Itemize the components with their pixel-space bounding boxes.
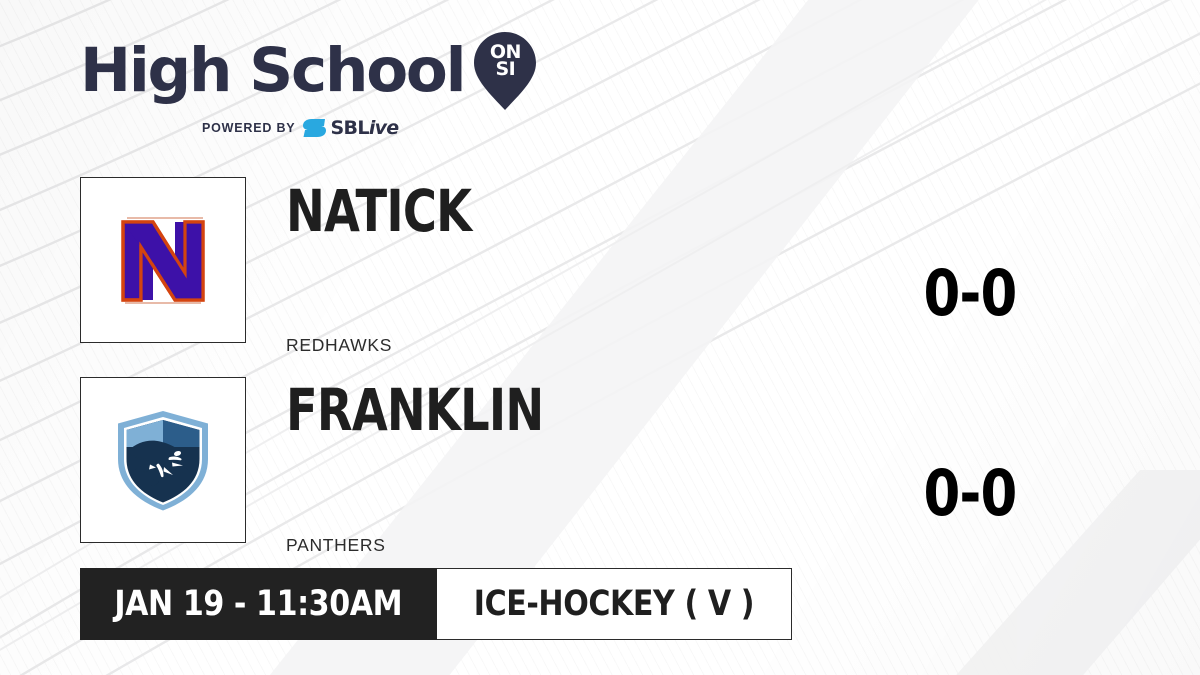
sblive-s-mark-icon [303,118,327,138]
team-name-natick: NATICK [286,182,471,240]
powered-by-label: POWERED BY [202,121,295,135]
powered-by-row: POWERED BY SBLive [202,117,510,139]
brand-title: High School [80,42,464,101]
natick-n-letter-logo-icon [103,200,223,320]
onsi-pin-label: ON SI [474,44,536,78]
team-name-franklin: FRANKLIN [286,381,543,439]
sblive-bold-text: SBL [330,117,368,139]
team-nickname-franklin: PANTHERS [286,535,386,556]
score-natick: 0-0 [878,262,1063,325]
sblive-logo: SBLive [303,117,398,139]
onsi-pin-line2: SI [474,61,536,78]
team-nickname-natick: REDHAWKS [286,335,392,356]
team-logo-franklin [80,377,246,543]
game-sport-text: ICE-HOCKEY ( V ) [474,584,754,624]
brand-title-row: High School ON SI [80,32,510,110]
sblive-wordmark: SBLive [330,117,398,139]
game-datetime: JAN 19 - 11:30AM [80,568,437,640]
matchup-graphic: High School ON SI POWERED BY SBLive [0,0,1200,675]
brand-logo: High School ON SI POWERED BY SBLive [80,32,510,139]
game-sport: ICE-HOCKEY ( V ) [437,568,792,640]
score-franklin: 0-0 [878,462,1063,525]
team-logo-natick [80,177,246,343]
onsi-pin-icon: ON SI [474,32,536,110]
game-info-bar: JAN 19 - 11:30AM ICE-HOCKEY ( V ) [80,568,792,640]
sblive-italic-text: ive [369,117,398,139]
game-datetime-text: JAN 19 - 11:30AM [115,584,403,624]
franklin-panther-shield-logo-icon [104,401,222,519]
